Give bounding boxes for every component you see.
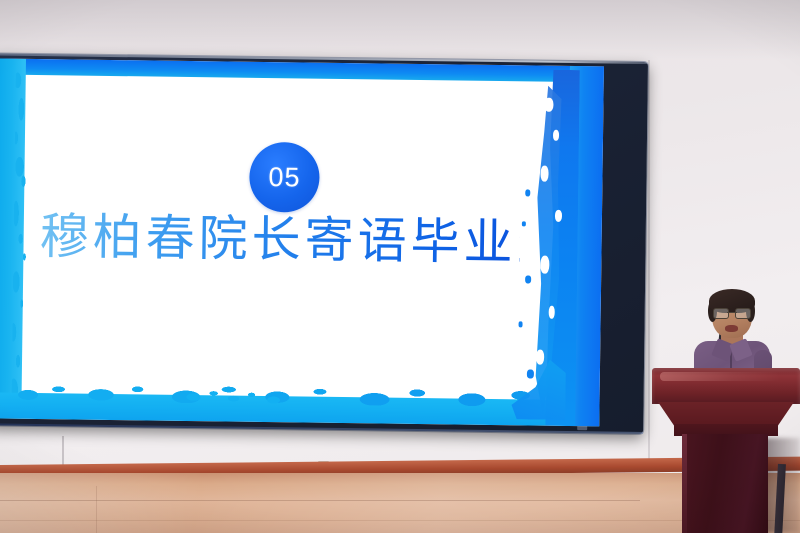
podium-top-sheen bbox=[660, 372, 780, 381]
podium-column-edge bbox=[682, 434, 687, 533]
wall-top-shading bbox=[0, 0, 800, 60]
floor-plank-line bbox=[96, 486, 97, 533]
slide-title: 穆柏春院长寄语毕业生 bbox=[39, 211, 520, 269]
presentation-display[interactable]: 05 穆柏春院长寄语毕业生 bbox=[0, 53, 648, 434]
brush-stroke-gap bbox=[544, 98, 553, 112]
glasses-lens bbox=[713, 308, 729, 319]
brush-speck bbox=[525, 275, 531, 283]
wall-panel-seam bbox=[648, 60, 650, 472]
slide-bottom-splatter bbox=[181, 389, 301, 407]
brush-stroke-gap bbox=[536, 350, 544, 365]
brush-stroke-gap bbox=[549, 306, 555, 319]
glasses-lens bbox=[735, 308, 751, 319]
glasses-icon bbox=[713, 308, 751, 317]
podium bbox=[652, 368, 800, 533]
podium-column bbox=[682, 434, 768, 533]
presentation-photo-scene: 05 穆柏春院长寄语毕业生 bbox=[0, 0, 800, 533]
brush-speck bbox=[519, 321, 523, 327]
podium-skirt bbox=[658, 402, 794, 426]
brush-speck bbox=[527, 369, 534, 378]
slide-border-left-texture bbox=[11, 59, 42, 419]
brush-speck bbox=[525, 189, 530, 196]
brush-stroke-gap bbox=[553, 130, 559, 141]
speaker-mouth bbox=[725, 325, 738, 332]
brush-stroke-gap bbox=[540, 166, 548, 182]
glasses-bridge bbox=[727, 312, 737, 313]
section-number-label: 05 bbox=[268, 162, 300, 193]
slide-canvas[interactable]: 05 穆柏春院长寄语毕业生 bbox=[0, 58, 604, 426]
